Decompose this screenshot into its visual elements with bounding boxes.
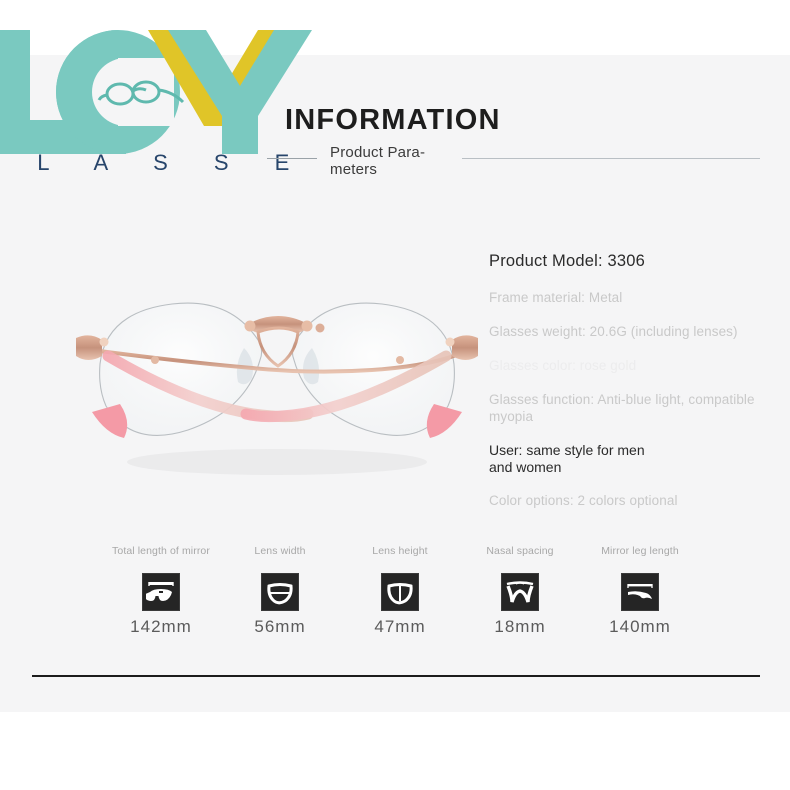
spec-glasses-weight: Glasses weight: 20.6G (including lenses) (489, 324, 789, 341)
total-length-icon (142, 573, 180, 611)
subtitle-line-1: Product Para- (330, 144, 450, 161)
section-divider (32, 675, 760, 677)
measurement-label: Lens height (335, 545, 465, 571)
page-title: INFORMATION (285, 106, 501, 135)
measurement-value: 56mm (215, 617, 345, 637)
measurement-value: 142mm (96, 617, 226, 637)
lens-width-icon (261, 573, 299, 611)
measurement-row: Total length of mirror 142mm Lens width … (100, 545, 700, 650)
measurement-nasal-spacing: Nasal spacing 18mm (455, 545, 585, 637)
product-photo (62, 286, 492, 496)
temple-length-icon (621, 573, 659, 611)
measurement-temple-length: Mirror leg length 140mm (575, 545, 705, 637)
spec-color-options: Color options: 2 colors optional (489, 493, 789, 510)
brand-logo: G L A S S E S (0, 28, 320, 178)
measurement-label: Lens width (215, 545, 345, 571)
subtitle-rule-right (462, 158, 760, 159)
spec-glasses-function: Glasses function: Anti-blue light, compa… (489, 392, 789, 426)
page-subtitle: Product Para- meters (330, 144, 450, 179)
measurement-label: Nasal spacing (455, 545, 585, 571)
measurement-lens-height: Lens height 47mm (335, 545, 465, 637)
svg-text:G L A S S E S: G L A S S E S (0, 150, 320, 175)
measurement-value: 140mm (575, 617, 705, 637)
spec-user: User: same style for men and women (489, 442, 669, 476)
subtitle-rule-left (267, 158, 317, 159)
measurement-label: Mirror leg length (575, 545, 705, 571)
product-information-page: G L A S S E S INFORMATION Product Para- … (0, 0, 790, 790)
lens-height-icon (381, 573, 419, 611)
measurement-total-length: Total length of mirror 142mm (96, 545, 226, 637)
measurement-lens-width: Lens width 56mm (215, 545, 345, 637)
spec-product-model: Product Model: 3306 (489, 252, 789, 271)
specification-list: Product Model: 3306 Frame material: Meta… (489, 252, 789, 526)
measurement-value: 18mm (455, 617, 585, 637)
spec-glasses-color: Glasses color: rose gold (489, 358, 789, 375)
subtitle-line-2: meters (330, 161, 450, 178)
measurement-value: 47mm (335, 617, 465, 637)
measurement-label: Total length of mirror (96, 545, 226, 571)
nasal-spacing-icon (501, 573, 539, 611)
spec-frame-material: Frame material: Metal (489, 290, 789, 307)
bottom-white-band (0, 712, 790, 790)
